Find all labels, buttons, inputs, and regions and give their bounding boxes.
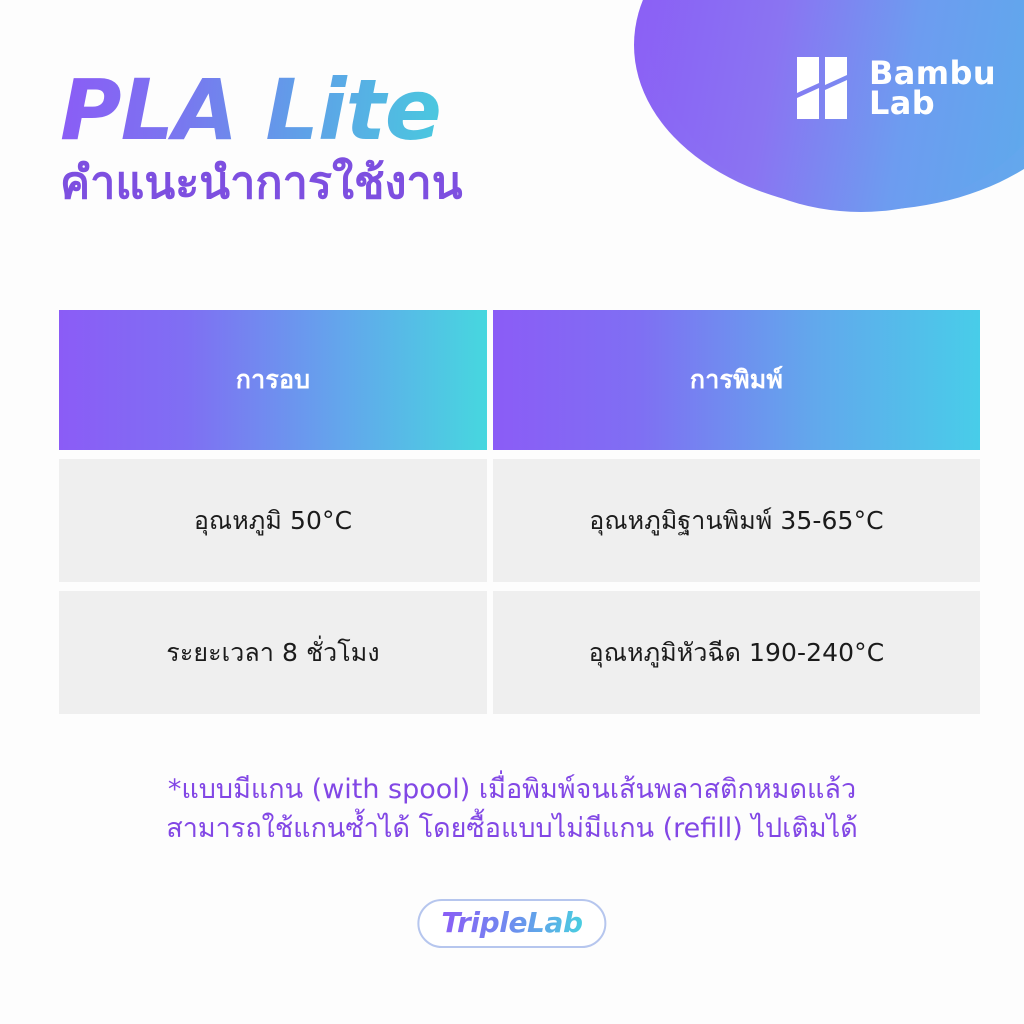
footnote-line-2: สามารถใช้แกนซ้ำได้ โดยซื้อแบบไม่มีแกน (r… bbox=[0, 809, 1024, 848]
table-cell-nozzle-temperature: อุณหภูมิหัวฉีด 190-240°C bbox=[493, 591, 980, 714]
footnote-line-1: *แบบมีแกน (with spool) เมื่อพิมพ์จนเส้นพ… bbox=[0, 770, 1024, 809]
triplelab-logo: TripleLab bbox=[417, 899, 606, 948]
bambu-lab-logo: Bambu Lab bbox=[797, 57, 996, 119]
table-cell-drying-temperature: อุณหภูมิ 50°C bbox=[59, 459, 487, 582]
infographic-page: Bambu Lab PLA Lite คำแนะนำการใช้งาน การอ… bbox=[0, 0, 1024, 1024]
headline-block: PLA Lite คำแนะนำการใช้งาน bbox=[60, 68, 463, 208]
specification-table: การอบ การพิมพ์ อุณหภูมิ 50°C อุณหภูมิฐาน… bbox=[59, 310, 980, 714]
page-title: PLA Lite bbox=[60, 68, 463, 154]
bambu-lab-wordmark: Bambu Lab bbox=[869, 58, 996, 118]
triplelab-wordmark: TripleLab bbox=[441, 906, 582, 939]
bambu-lab-mark-icon bbox=[797, 57, 855, 119]
table-cell-drying-duration: ระยะเวลา 8 ชั่วโมง bbox=[59, 591, 487, 714]
table-header-drying: การอบ bbox=[59, 310, 487, 450]
page-subtitle: คำแนะนำการใช้งาน bbox=[60, 158, 463, 208]
footnote: *แบบมีแกน (with spool) เมื่อพิมพ์จนเส้นพ… bbox=[0, 770, 1024, 849]
table-cell-bed-temperature: อุณหภูมิฐานพิมพ์ 35-65°C bbox=[493, 459, 980, 582]
bambu-wordmark-line2: Lab bbox=[869, 88, 996, 118]
table-header-printing: การพิมพ์ bbox=[493, 310, 980, 450]
